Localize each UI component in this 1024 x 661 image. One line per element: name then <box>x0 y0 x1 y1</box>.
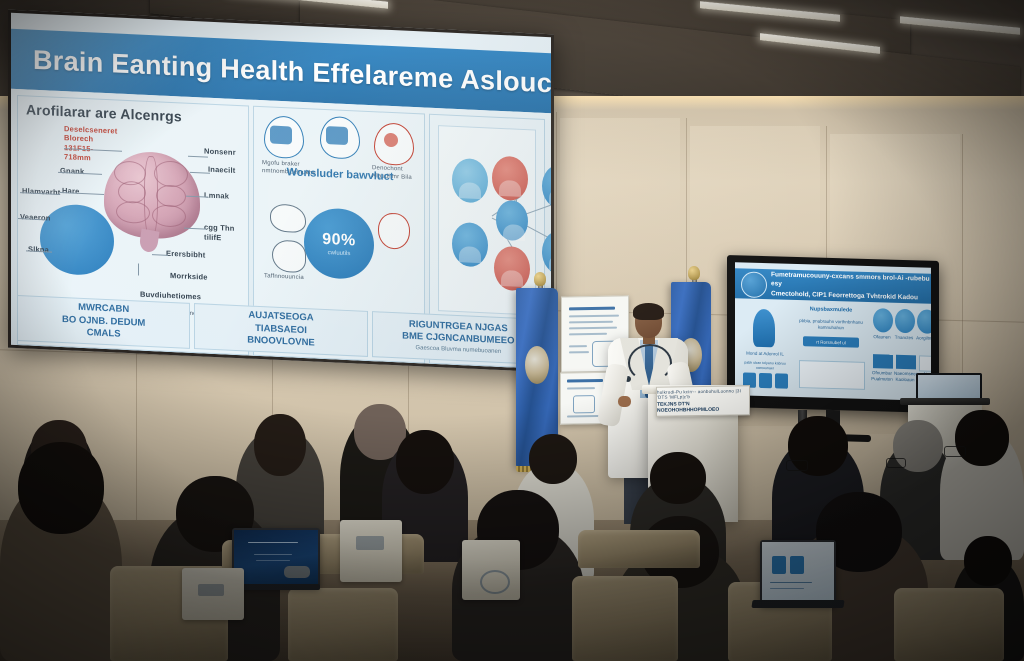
brain-label: cgg Thn tilifE <box>204 223 244 244</box>
brain-label: Buvdiuhetiomes <box>140 290 201 302</box>
caption-line: BNOOVLOVNE <box>247 335 315 350</box>
avatar <box>917 309 931 334</box>
chair <box>578 530 700 568</box>
side-monitor-screen: Fumetramucouuny-cxcans smmors brol-Ai -r… <box>735 262 931 400</box>
monitor-sub: pbbia, pnabrauhn vorthnbnhanu kamnuhahun <box>795 318 867 332</box>
avatar <box>542 164 554 210</box>
side-monitor[interactable]: Fumetramucouuny-cxcans smmors brol-Ai -r… <box>727 255 939 413</box>
monitor-subcaption: pabh uban tolyanu kabruu oamuunaer <box>739 360 791 371</box>
ceiling-light-strip <box>900 16 1020 35</box>
avatar <box>542 230 554 276</box>
brain-label: Morrkside <box>170 271 208 282</box>
laptop[interactable] <box>232 528 320 588</box>
podium-sign-line-2: TEKJNS DT'N NOEOHOHBHHOPMLOEO <box>657 400 749 414</box>
organ-icon <box>270 204 306 234</box>
heart-icon <box>378 212 410 249</box>
podium-sign-line-1: hulkrodi-Pu kcirr-- aonbohulLoonno |3I '… <box>657 388 749 400</box>
lectern-top <box>900 398 990 405</box>
main-presentation-screen[interactable]: Brain Eanting Health Effelareme Aslouces… <box>8 10 554 373</box>
avatar-caption: Tnanctes <box>893 335 915 342</box>
tile-caption: Naeomseeu Kaoloaun <box>894 371 916 384</box>
caption-line: CMALS <box>87 327 121 341</box>
chair <box>572 576 678 661</box>
head-alert-icon <box>374 122 414 166</box>
avatar-center <box>496 200 528 241</box>
lungs-icon <box>272 240 306 274</box>
monitor-column-mid: Nupsbaxmulede pbbia, pnabrauhn vorthnbnh… <box>795 304 867 395</box>
stat-percentage-circle: 90% cwluutils <box>304 207 374 280</box>
brain-label: Inaecilt <box>208 165 235 175</box>
tote-bag <box>340 520 402 582</box>
flag-finial-left <box>534 272 546 286</box>
audience-member <box>0 478 122 661</box>
laptop-screen <box>762 542 834 604</box>
avatar <box>452 222 488 268</box>
speaker-hair <box>633 303 664 320</box>
speaker-hand <box>618 396 631 407</box>
brain-label: Erersbibht <box>166 249 206 260</box>
chair <box>894 588 1004 661</box>
monitor-cta-button[interactable]: rt Rorsnubef ul <box>803 336 859 348</box>
laptop[interactable] <box>760 540 836 606</box>
avatar-caption: Ofaunen <box>871 334 893 341</box>
chair <box>288 588 398 661</box>
monitor-heading: Nupsbaxmulede <box>795 306 867 315</box>
avatar <box>492 156 528 202</box>
tile-caption: Ofnumbar Pualmuton <box>871 370 893 383</box>
icon-caption: Taffnnouuncia <box>264 273 304 281</box>
flag-finial-right <box>688 266 700 280</box>
stat-caption: cwluutils <box>328 250 351 257</box>
caption-block: MWRCABN BO OJNB. DEDUM CMALS <box>17 295 190 349</box>
brain-label: Slkna <box>28 245 49 255</box>
stethoscope-icon <box>628 344 672 382</box>
head-profile-icon <box>320 116 360 160</box>
avatar <box>873 308 893 333</box>
podium-sign: hulkrodi-Pu kcirr-- aonbohulLoonno |3I '… <box>656 385 750 417</box>
laptop-screen <box>234 530 318 586</box>
conference-hall-photo: Brain Eanting Health Effelareme Aslouces… <box>0 0 1024 661</box>
stat-value: 90% <box>322 230 356 250</box>
person-silhouette-icon <box>753 309 775 348</box>
brain-label: Hare <box>62 186 79 196</box>
tote-bag <box>182 568 244 620</box>
brainstem <box>139 229 160 254</box>
caption-sub: Gaescoa Bluvma numebuoanen <box>415 346 501 358</box>
brain-label: Nonsenr <box>204 147 236 157</box>
brain-callout: Deselcseneret Blorech 131F15-718mm <box>64 124 120 164</box>
brain-label: Gnank <box>60 166 84 176</box>
laptop-base <box>751 600 844 608</box>
avatar <box>494 246 530 292</box>
avatar-caption: Aorgiltnnor <box>915 335 931 342</box>
head-profile-icon <box>264 115 304 159</box>
blue-accent-circle <box>40 203 114 276</box>
brain-label: Lmnak <box>204 191 229 201</box>
monitor-column-left: Mond at Adonrol IL pabh uban tolyanu kab… <box>739 302 791 392</box>
avatar <box>895 309 915 334</box>
organization-logo-icon <box>741 271 767 298</box>
monitor-body-text <box>795 350 867 358</box>
caption-block: AUJATSEOGA TIABSAEOI BNOOVLOVNE <box>194 303 367 357</box>
avatar <box>452 158 488 204</box>
monitor-caption: Mond at Adonrol IL <box>739 350 791 358</box>
tote-bag <box>462 540 520 600</box>
brain-label: Veaeron <box>20 212 51 222</box>
